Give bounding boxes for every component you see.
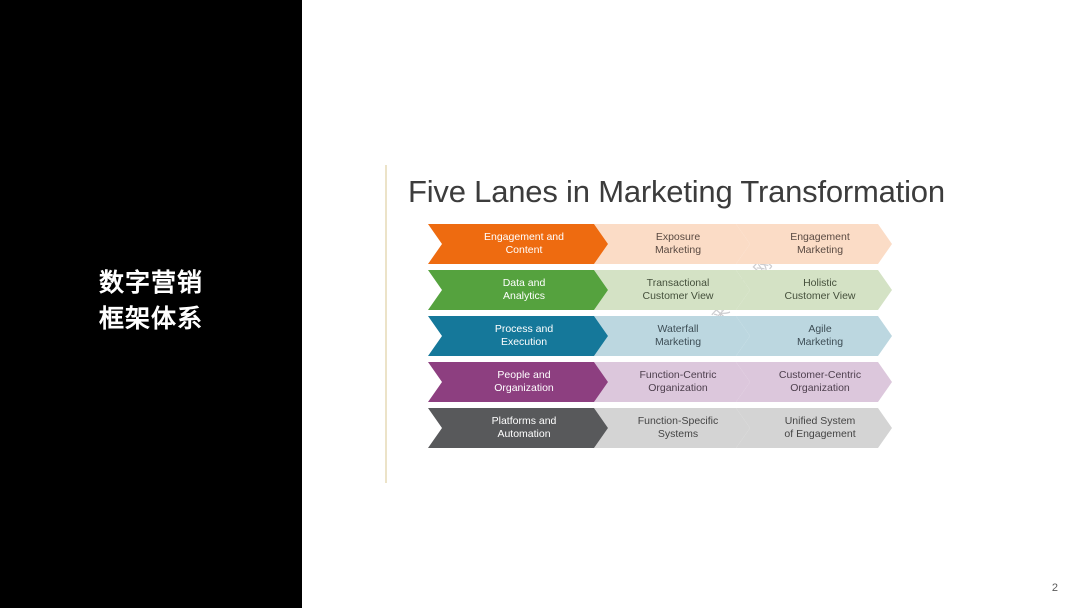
lane-stage-cell: Agile Marketing: [736, 316, 892, 356]
lane-row: Platforms and AutomationFunction-Specifi…: [428, 408, 906, 448]
lane-label-process-and-execution: Process and Execution: [428, 316, 608, 356]
left-title-panel: 数字营销 框架体系: [0, 0, 302, 608]
lane-label-engagement-and-content: Engagement and Content: [428, 224, 608, 264]
lane-stage-cell: Exposure Marketing: [594, 224, 750, 264]
slide: 数字营销 框架体系 Five Lanes in Marketing Transf…: [0, 0, 1080, 608]
lane-row: Process and ExecutionWaterfall Marketing…: [428, 316, 906, 356]
lane-stage-cell: Holistic Customer View: [736, 270, 892, 310]
lane-stage-cell: Engagement Marketing: [736, 224, 892, 264]
slide-content: Five Lanes in Marketing Transformation E…: [302, 0, 1080, 608]
figure-title: Five Lanes in Marketing Transformation: [408, 174, 928, 210]
lane-stage-cell: Function-Centric Organization: [594, 362, 750, 402]
lane-label-people-and-organization: People and Organization: [428, 362, 608, 402]
lane-row: People and OrganizationFunction-Centric …: [428, 362, 906, 402]
lane-stage-cell: Customer-Centric Organization: [736, 362, 892, 402]
slide-title: 数字营销 框架体系: [0, 265, 302, 336]
page-number: 2: [1052, 582, 1058, 594]
lane-row: Data and AnalyticsTransactional Customer…: [428, 270, 906, 310]
five-lanes-figure: Five Lanes in Marketing Transformation E…: [380, 160, 940, 485]
lane-label-platforms-and-automation: Platforms and Automation: [428, 408, 608, 448]
lane-label-data-and-analytics: Data and Analytics: [428, 270, 608, 310]
lane-stage-cell: Transactional Customer View: [594, 270, 750, 310]
lane-rows: Engagement and ContentExposure Marketing…: [428, 224, 906, 448]
figure-left-rule: [385, 165, 387, 483]
lane-stage-cell: Function-Specific Systems: [594, 408, 750, 448]
lane-row: Engagement and ContentExposure Marketing…: [428, 224, 906, 264]
lane-stage-cell: Unified System of Engagement: [736, 408, 892, 448]
lane-stage-cell: Waterfall Marketing: [594, 316, 750, 356]
